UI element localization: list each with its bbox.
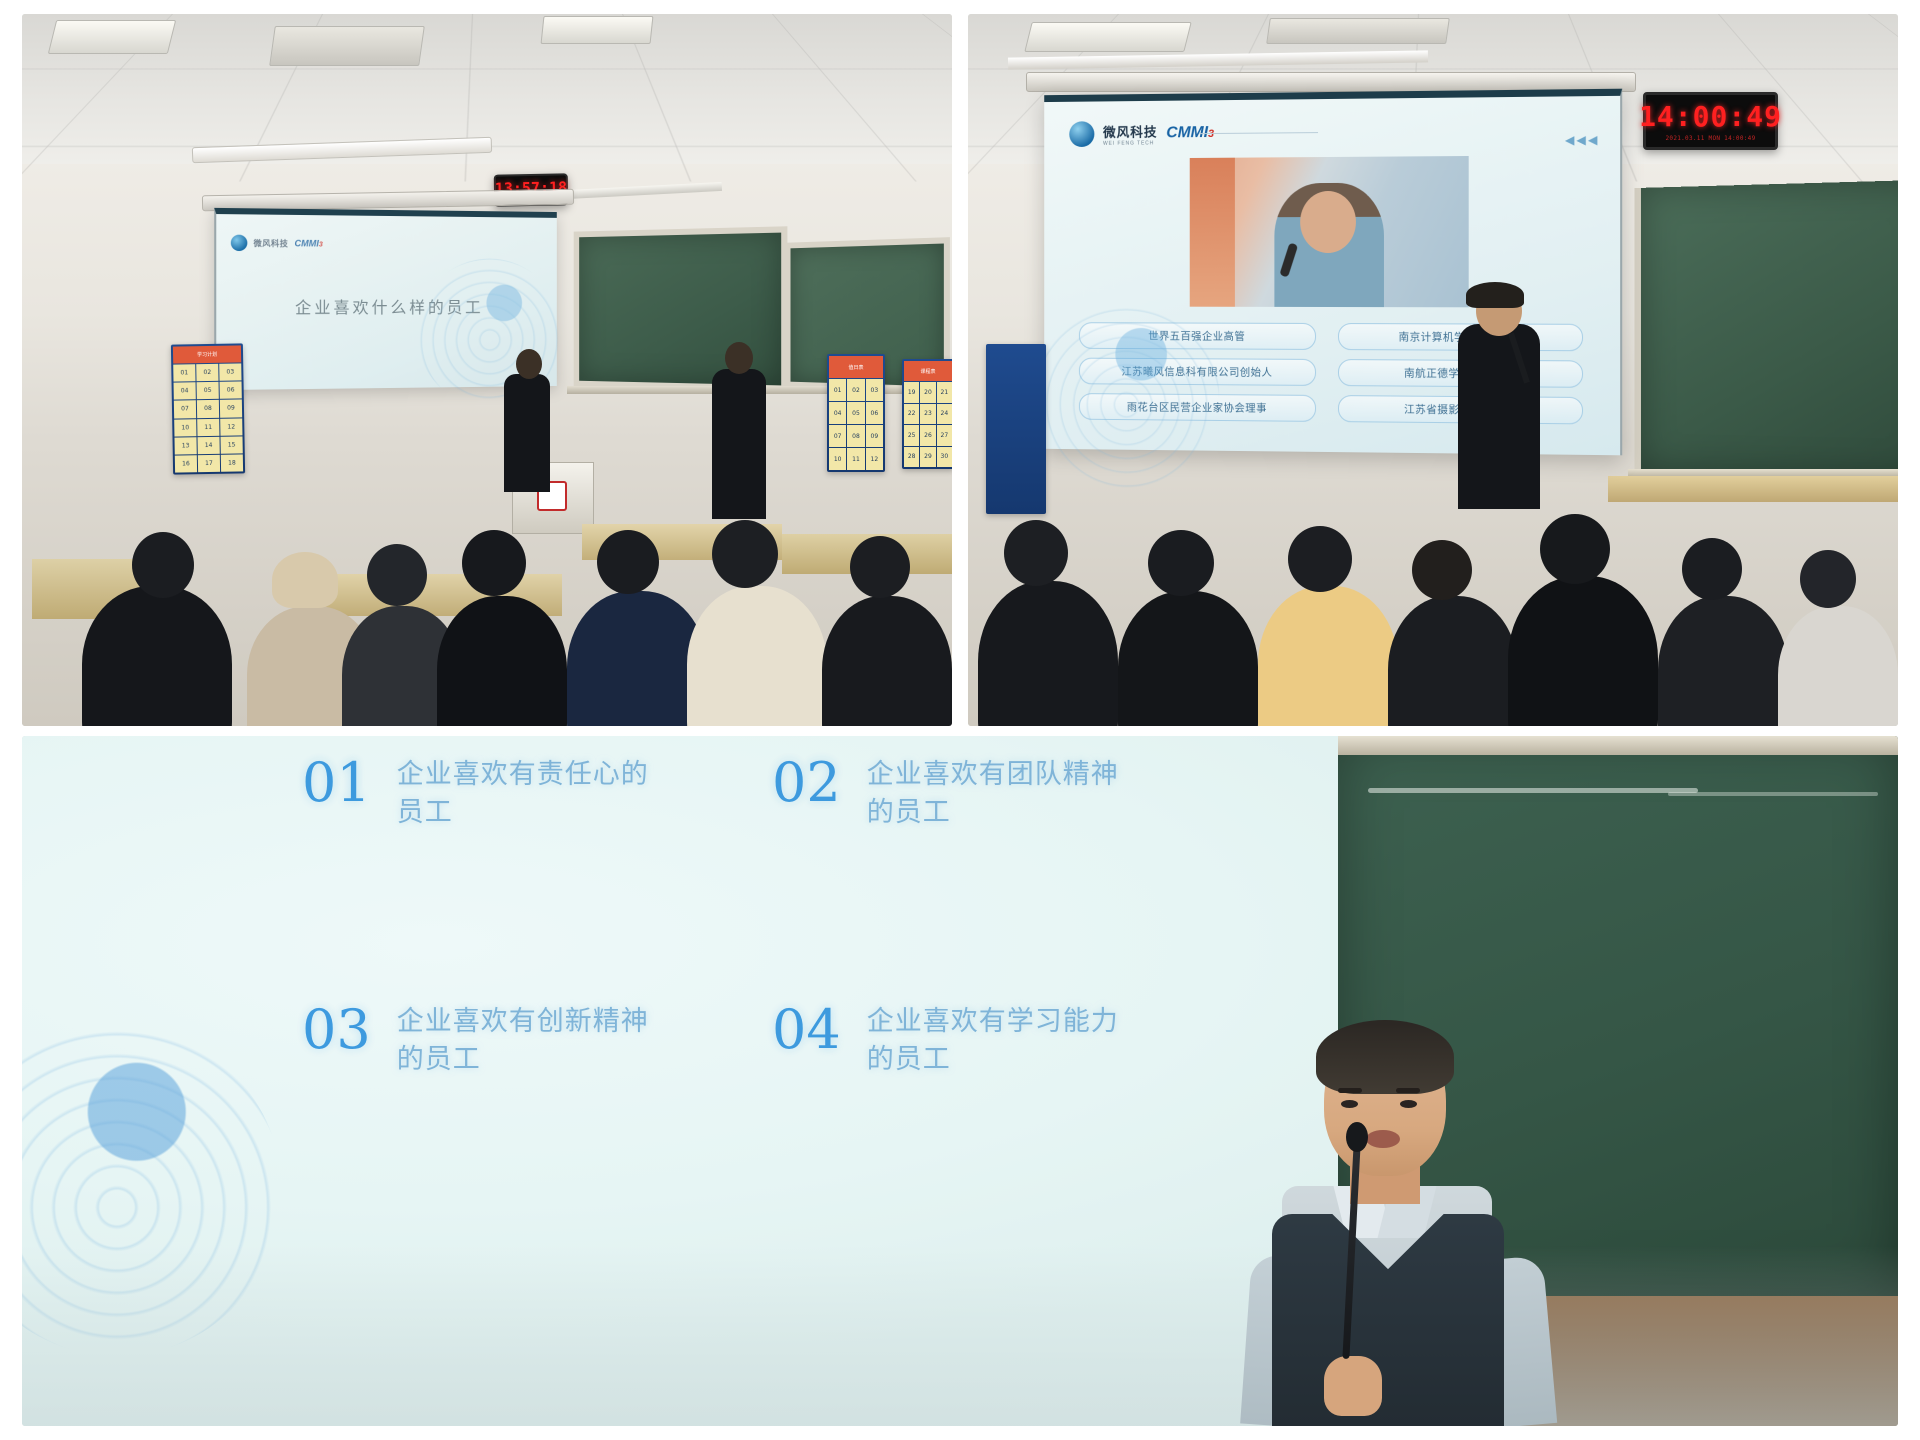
audience-head bbox=[1540, 514, 1610, 584]
ceiling-lamp bbox=[1024, 22, 1191, 52]
bullet-text: 企业喜欢有团队精神的员工 bbox=[867, 756, 1137, 833]
audience-head bbox=[1148, 530, 1214, 596]
microphone-icon bbox=[1346, 1122, 1368, 1152]
ceiling-lamp bbox=[48, 20, 176, 54]
pocket-chart-cell: 11 bbox=[847, 448, 864, 470]
presenter bbox=[1228, 1026, 1558, 1426]
pocket-chart-cell: 04 bbox=[174, 382, 196, 400]
audience-member bbox=[687, 586, 827, 726]
audience-head bbox=[132, 532, 194, 598]
presenter-brow bbox=[1338, 1088, 1362, 1093]
speaker-host bbox=[504, 374, 550, 492]
audience-head bbox=[272, 552, 338, 608]
audience-member bbox=[978, 581, 1118, 726]
pocket-chart-cell: 01 bbox=[829, 379, 846, 401]
bullet-number: 04 bbox=[772, 1003, 841, 1057]
pocket-chart-cell: 05 bbox=[847, 402, 864, 424]
pocket-chart-cell: 08 bbox=[197, 400, 219, 418]
bullet-number: 03 bbox=[302, 1003, 371, 1057]
pocket-chart-cell: 29 bbox=[920, 447, 935, 467]
bullet-list: 01 企业喜欢有责任心的员工 02 企业喜欢有团队精神的员工 03 企业喜欢有创… bbox=[302, 756, 1182, 1079]
pocket-chart-cell: 19 bbox=[904, 382, 919, 402]
pocket-chart-cell: 11 bbox=[197, 418, 219, 436]
audience-head bbox=[1800, 550, 1856, 608]
pocket-chart-cell: 02 bbox=[196, 364, 218, 382]
audience-head bbox=[850, 536, 910, 598]
globe-icon bbox=[231, 235, 248, 251]
blackboard bbox=[1634, 180, 1898, 479]
pocket-chart-cell: 06 bbox=[866, 402, 883, 424]
list-item: 01 企业喜欢有责任心的员工 bbox=[302, 756, 712, 833]
pocket-chart-cell: 04 bbox=[829, 402, 846, 424]
pocket-chart: 值日表010203040506070809101112 bbox=[827, 354, 885, 472]
audience-member bbox=[822, 596, 952, 726]
pocket-chart: 学习计划010203040506070809101112131415161718 bbox=[171, 343, 245, 474]
list-item: 03 企业喜欢有创新精神的员工 bbox=[302, 1003, 712, 1080]
projection-screen: 微风科技 CMMI3 企业喜欢什么样的员工 bbox=[214, 208, 557, 390]
list-item: 02 企业喜欢有团队精神的员工 bbox=[772, 756, 1182, 833]
panel-lecture-photo-speaker: 14:00:49 2021.03.11 MON 14:00:49 微风科技 WE… bbox=[968, 14, 1898, 726]
portrait-face bbox=[1300, 191, 1356, 253]
globe-icon bbox=[1069, 121, 1094, 147]
pocket-chart-cell: 21 bbox=[937, 382, 952, 402]
slide-logo: 微风科技 CMMI3 bbox=[231, 235, 323, 252]
audience bbox=[22, 496, 952, 726]
clock-time: 14:00:49 bbox=[1639, 100, 1782, 133]
audience bbox=[968, 496, 1898, 726]
chalk-mark bbox=[1368, 788, 1698, 793]
decorative-swirl bbox=[1035, 301, 1220, 490]
pocket-chart: 课程表192021222324252627282930 bbox=[902, 359, 952, 469]
pocket-chart-cell: 17 bbox=[198, 455, 220, 473]
speaker-guest-head bbox=[725, 342, 753, 374]
pocket-chart-cell: 14 bbox=[197, 437, 219, 455]
brand-name-cn: 微风科技 WEI FENG TECH bbox=[1103, 121, 1157, 146]
presenter-hair bbox=[1316, 1020, 1454, 1094]
portrait-stripe bbox=[1190, 158, 1235, 307]
audience-member bbox=[1658, 596, 1788, 726]
slide-logo: 微风科技 WEI FENG TECH CMMI3 bbox=[1069, 120, 1214, 147]
chalk-mark bbox=[1668, 792, 1878, 796]
brand-subtitle: WEI FENG TECH bbox=[1103, 140, 1157, 146]
bullet-number: 02 bbox=[772, 756, 841, 810]
pocket-chart-cell: 27 bbox=[937, 425, 952, 445]
presenter-hand bbox=[1324, 1356, 1382, 1416]
ceiling-lamp bbox=[1266, 18, 1450, 44]
audience-member bbox=[1508, 576, 1658, 726]
pocket-chart-cell: 16 bbox=[175, 455, 197, 473]
list-item: 04 企业喜欢有学习能力的员工 bbox=[772, 1003, 1182, 1080]
audience-member bbox=[567, 591, 707, 726]
brand-name-text: 微风科技 bbox=[1103, 124, 1157, 139]
pocket-chart-header: 学习计划 bbox=[173, 345, 241, 363]
speaker-host-head bbox=[516, 349, 542, 379]
presenter-brow bbox=[1396, 1088, 1420, 1093]
bullet-text: 企业喜欢有创新精神的员工 bbox=[397, 1003, 667, 1080]
pocket-chart-cell: 05 bbox=[197, 382, 219, 400]
pocket-chart-cell: 09 bbox=[866, 425, 883, 447]
pocket-chart-cell: 09 bbox=[220, 400, 242, 418]
pocket-chart-cell: 12 bbox=[866, 448, 883, 470]
ceiling-lamp bbox=[541, 16, 654, 44]
presenter-eye bbox=[1341, 1100, 1358, 1108]
brand-name-cn: 微风科技 bbox=[254, 237, 289, 248]
pocket-chart-header: 课程表 bbox=[904, 361, 952, 381]
pocket-chart-cell: 08 bbox=[847, 425, 864, 447]
clock-date: 2021.03.11 MON 14:00:49 bbox=[1666, 135, 1756, 142]
pocket-chart-cell: 02 bbox=[847, 379, 864, 401]
pocket-chart-cell: 10 bbox=[174, 419, 196, 437]
panel-lecture-photo-wide: 13:57:18 2021.03.11 MON 微风科技 CMMI3 企业喜欢什… bbox=[22, 14, 952, 726]
audience-member bbox=[1118, 591, 1258, 726]
pocket-chart-cell: 24 bbox=[937, 404, 952, 424]
pocket-chart-cell: 13 bbox=[174, 437, 196, 455]
audience-head bbox=[1288, 526, 1352, 592]
audience-head bbox=[367, 544, 427, 606]
photo-collage: 13:57:18 2021.03.11 MON 微风科技 CMMI3 企业喜欢什… bbox=[0, 0, 1920, 1440]
pocket-chart-cell: 30 bbox=[937, 447, 952, 467]
pocket-chart-cell: 28 bbox=[904, 447, 919, 467]
pocket-chart-header: 值日表 bbox=[829, 356, 883, 378]
ceiling-lamp bbox=[269, 26, 425, 66]
speaker bbox=[1458, 324, 1540, 509]
pocket-chart-cell: 25 bbox=[904, 425, 919, 445]
audience-member bbox=[437, 596, 567, 726]
audience-head bbox=[1412, 540, 1472, 600]
pocket-chart-cell: 10 bbox=[829, 448, 846, 470]
logo-divider bbox=[1200, 132, 1319, 134]
panel-presentation-slide: 01 企业喜欢有责任心的员工 02 企业喜欢有团队精神的员工 03 企业喜欢有创… bbox=[22, 736, 1898, 1426]
audience-member bbox=[1388, 596, 1518, 726]
pocket-chart-cell: 06 bbox=[220, 382, 242, 400]
pocket-chart-cell: 18 bbox=[221, 454, 243, 472]
pocket-chart-cell: 15 bbox=[220, 436, 242, 454]
speaker-hair bbox=[1466, 282, 1524, 308]
pocket-chart-cell: 12 bbox=[220, 418, 242, 436]
pocket-chart-cell: 07 bbox=[174, 401, 196, 419]
cmmi-logo: CMMI3 bbox=[294, 238, 322, 248]
pocket-chart-cell: 20 bbox=[920, 382, 935, 402]
pocket-chart-cell: 23 bbox=[920, 404, 935, 424]
pocket-chart-cell: 03 bbox=[219, 364, 241, 382]
audience-head bbox=[462, 530, 526, 596]
pocket-chart-cell: 26 bbox=[920, 425, 935, 445]
pocket-chart-cell: 07 bbox=[829, 425, 846, 447]
audience-member bbox=[1778, 606, 1898, 726]
blackboard bbox=[574, 226, 788, 392]
digital-clock: 14:00:49 2021.03.11 MON 14:00:49 bbox=[1643, 92, 1778, 150]
pocket-chart-cell: 03 bbox=[866, 379, 883, 401]
bullet-text: 企业喜欢有学习能力的员工 bbox=[867, 1003, 1137, 1080]
presenter-eye bbox=[1400, 1100, 1417, 1108]
bullet-text: 企业喜欢有责任心的员工 bbox=[397, 756, 667, 833]
pocket-chart-cell: 22 bbox=[904, 404, 919, 424]
bullet-number: 01 bbox=[302, 756, 371, 810]
audience-head bbox=[1682, 538, 1742, 600]
audience-member bbox=[1258, 586, 1398, 726]
portrait-photo bbox=[1190, 156, 1469, 307]
audience-head bbox=[597, 530, 659, 594]
audience-head bbox=[1004, 520, 1068, 586]
chalk-rail bbox=[1338, 736, 1898, 755]
audience-head bbox=[712, 520, 778, 588]
pocket-chart-cell: 01 bbox=[173, 364, 195, 382]
room-floor-glow bbox=[22, 1246, 1898, 1426]
chevron-left-icon: ◀◀◀ bbox=[1565, 133, 1600, 148]
audience-member bbox=[82, 586, 232, 726]
presenter-mouth bbox=[1366, 1130, 1400, 1148]
